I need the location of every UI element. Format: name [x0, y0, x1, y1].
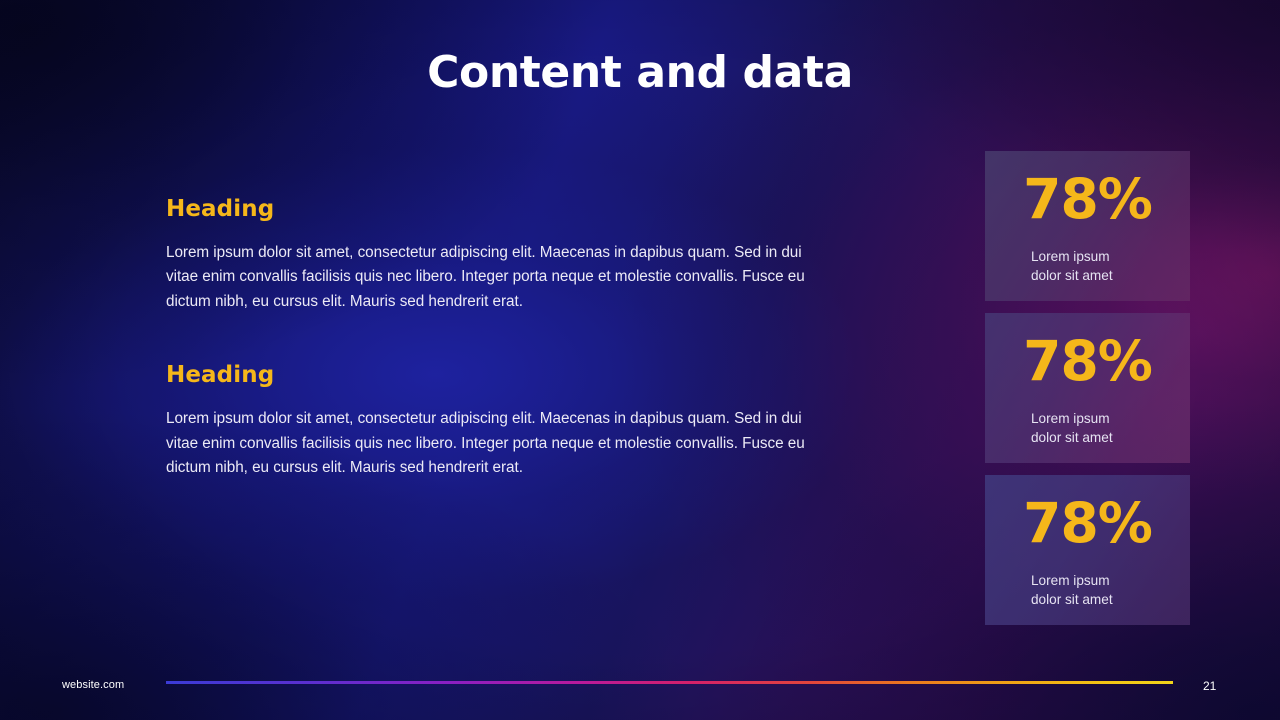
slide-canvas: Content and data Heading Lorem ipsum dol… — [0, 0, 1280, 720]
stat-card-1-caption: Lorem ipsum dolor sit amet — [1031, 247, 1113, 285]
content-block-2-heading: Heading — [166, 362, 816, 388]
stat-card-3-caption-line1: Lorem ipsum — [1031, 571, 1113, 590]
footer-website-label: website.com — [62, 679, 124, 691]
stat-card: 78% Lorem ipsum dolor sit amet — [985, 151, 1190, 301]
stat-card-list: 78% Lorem ipsum dolor sit amet 78% Lorem… — [985, 151, 1190, 625]
content-block-1: Heading Lorem ipsum dolor sit amet, cons… — [166, 196, 816, 314]
stat-card: 78% Lorem ipsum dolor sit amet — [985, 313, 1190, 463]
footer-page-number: 21 — [1203, 679, 1216, 693]
stat-card: 78% Lorem ipsum dolor sit amet — [985, 475, 1190, 625]
stat-card-3-caption-line2: dolor sit amet — [1031, 590, 1113, 609]
stat-card-1-caption-line1: Lorem ipsum — [1031, 247, 1113, 266]
stat-card-1-value: 78% — [985, 172, 1190, 227]
stat-card-2-caption-line2: dolor sit amet — [1031, 428, 1113, 447]
stat-card-3-caption: Lorem ipsum dolor sit amet — [1031, 571, 1113, 609]
stat-card-2-value: 78% — [985, 334, 1190, 389]
content-block-2: Heading Lorem ipsum dolor sit amet, cons… — [166, 362, 816, 480]
stat-card-2-caption: Lorem ipsum dolor sit amet — [1031, 409, 1113, 447]
text-column: Heading Lorem ipsum dolor sit amet, cons… — [166, 196, 816, 480]
footer-gradient-rule — [166, 681, 1173, 684]
stat-card-3-value: 78% — [985, 496, 1190, 551]
content-block-1-body: Lorem ipsum dolor sit amet, consectetur … — [166, 241, 816, 314]
page-title: Content and data — [0, 47, 1280, 98]
stat-card-2-caption-line1: Lorem ipsum — [1031, 409, 1113, 428]
content-block-1-heading: Heading — [166, 196, 816, 222]
content-block-2-body: Lorem ipsum dolor sit amet, consectetur … — [166, 407, 816, 480]
stat-card-1-caption-line2: dolor sit amet — [1031, 266, 1113, 285]
